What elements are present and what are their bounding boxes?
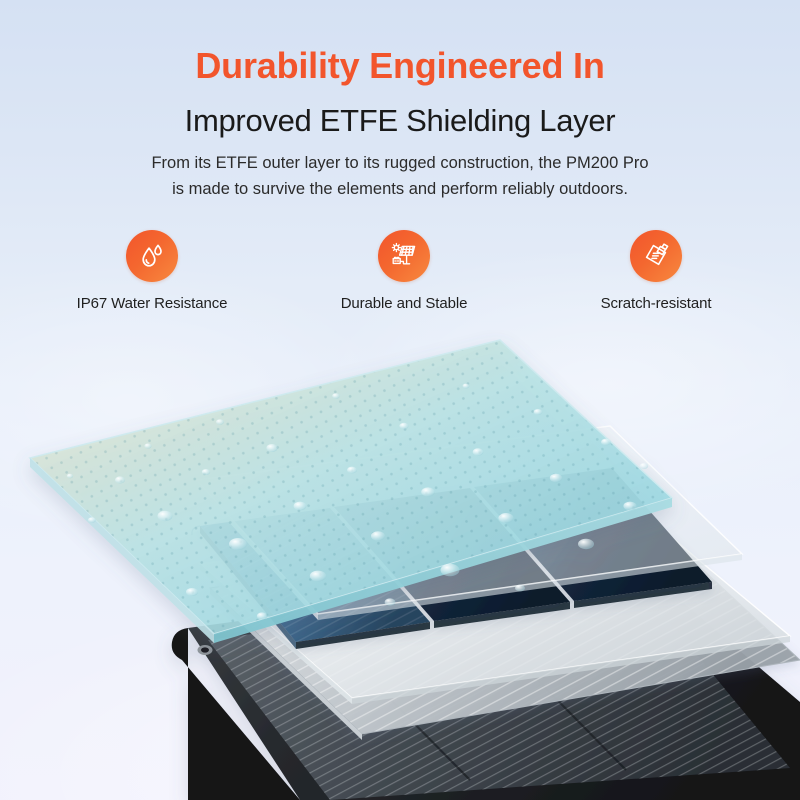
- page-subheadline: Improved ETFE Shielding Layer: [0, 103, 800, 139]
- feature-item-durable-stable: Durable and Stable: [319, 230, 489, 312]
- body-copy: From its ETFE outer layer to its rugged …: [80, 151, 720, 202]
- header: Durability Engineered In Improved ETFE S…: [0, 0, 800, 202]
- feature-label-durable-stable: Durable and Stable: [341, 295, 468, 312]
- solar-panel-icon: [378, 230, 430, 282]
- page-headline: Durability Engineered In: [0, 46, 800, 86]
- feature-item-water-resistance: IP67 Water Resistance: [67, 230, 237, 312]
- feature-item-scratch-resistant: Scratch-resistant: [571, 230, 741, 312]
- feature-label-water-resistance: IP67 Water Resistance: [77, 295, 228, 312]
- water-drop-icon: [126, 230, 178, 282]
- scratch-resistant-icon: [630, 230, 682, 282]
- body-copy-line-1: From its ETFE outer layer to its rugged …: [80, 151, 720, 177]
- feature-list: IP67 Water Resistance Durable: [0, 230, 800, 312]
- body-copy-line-2: is made to survive the elements and perf…: [80, 177, 720, 203]
- exploded-solar-panel-diagram: [0, 330, 800, 800]
- feature-label-scratch-resistant: Scratch-resistant: [601, 295, 712, 312]
